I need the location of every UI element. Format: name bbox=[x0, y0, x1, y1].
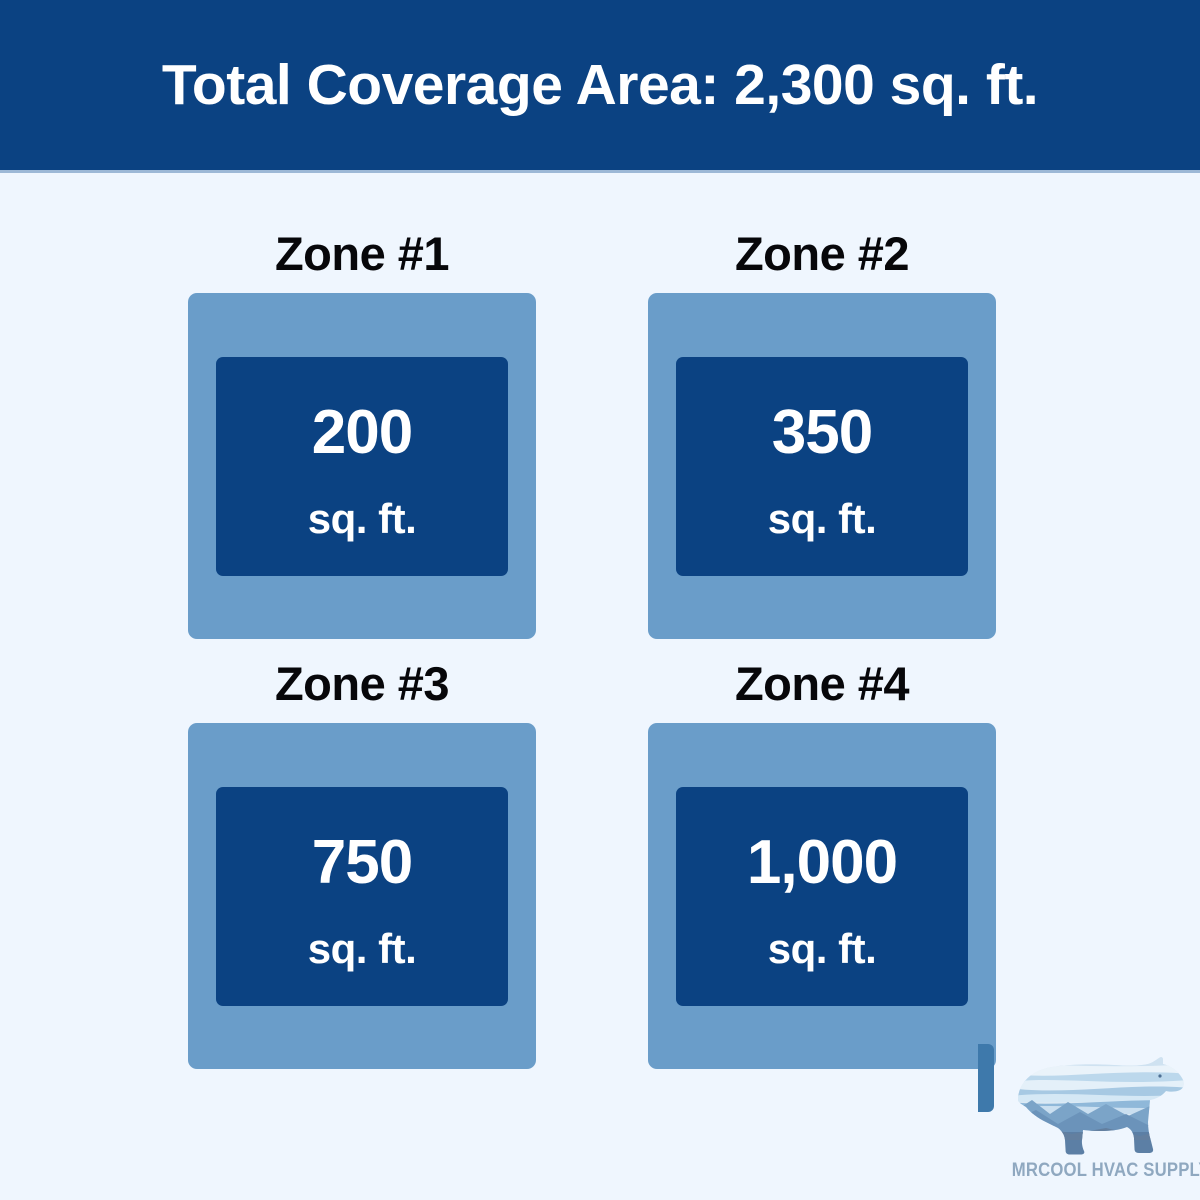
logo-wordmark: MRCOOL HVAC SUPPLY bbox=[1012, 1160, 1184, 1182]
zone-label-1: Zone #1 bbox=[188, 215, 536, 293]
header-banner: Total Coverage Area: 2,300 sq. ft. bbox=[0, 0, 1200, 170]
zone-value-panel-2: 350 sq. ft. bbox=[676, 357, 968, 576]
zone-value-1: 200 bbox=[312, 402, 412, 464]
zone-block-3: Zone #3 750 sq. ft. bbox=[188, 645, 536, 1069]
zone-grid: Zone #1 200 sq. ft. Zone #2 350 sq. ft. … bbox=[0, 173, 1200, 1200]
brand-logo: MRCOOL HVAC SUPPLY bbox=[1000, 1052, 1196, 1192]
zone-card-1: 200 sq. ft. bbox=[188, 293, 536, 639]
zone-value-panel-4: 1,000 sq. ft. bbox=[676, 787, 968, 1006]
zone-card-2: 350 sq. ft. bbox=[648, 293, 996, 639]
zone-unit-3: sq. ft. bbox=[308, 928, 417, 970]
zone-value-3: 750 bbox=[312, 832, 412, 894]
page-title: Total Coverage Area: 2,300 sq. ft. bbox=[162, 57, 1038, 114]
zone-label-4: Zone #4 bbox=[648, 645, 996, 723]
zone-value-panel-3: 750 sq. ft. bbox=[216, 787, 508, 1006]
zone-label-2: Zone #2 bbox=[648, 215, 996, 293]
zone-unit-2: sq. ft. bbox=[768, 498, 877, 540]
zone-card-4: 1,000 sq. ft. bbox=[648, 723, 996, 1069]
polar-bear-icon bbox=[1010, 1052, 1190, 1160]
zone-unit-4: sq. ft. bbox=[768, 928, 877, 970]
zone-block-2: Zone #2 350 sq. ft. bbox=[648, 215, 996, 639]
zone-value-panel-1: 200 sq. ft. bbox=[216, 357, 508, 576]
zone-value-4: 1,000 bbox=[747, 832, 897, 894]
logo-side-tab bbox=[978, 1044, 994, 1112]
zone-block-4: Zone #4 1,000 sq. ft. bbox=[648, 645, 996, 1069]
zone-unit-1: sq. ft. bbox=[308, 498, 417, 540]
zone-card-3: 750 sq. ft. bbox=[188, 723, 536, 1069]
zone-label-3: Zone #3 bbox=[188, 645, 536, 723]
zone-block-1: Zone #1 200 sq. ft. bbox=[188, 215, 536, 639]
zone-value-2: 350 bbox=[772, 402, 872, 464]
